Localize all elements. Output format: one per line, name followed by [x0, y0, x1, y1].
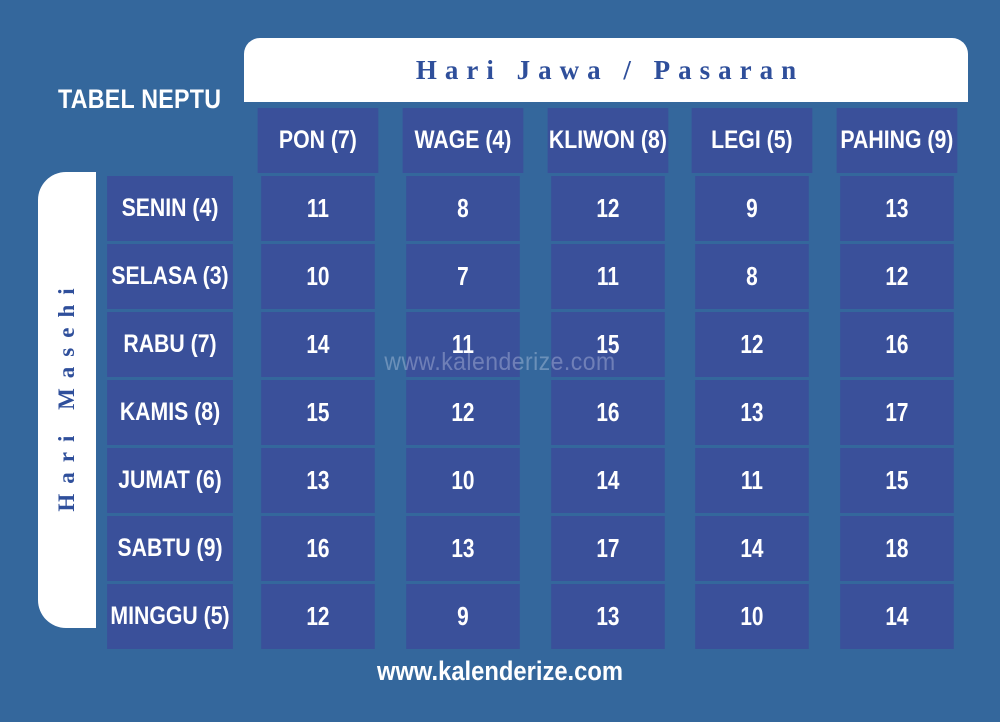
neptu-cell: 12: [551, 176, 664, 241]
neptu-cell: 13: [696, 380, 809, 445]
neptu-cell: 13: [406, 516, 519, 581]
neptu-cell: 13: [551, 584, 664, 649]
row-header: SABTU (9): [107, 516, 233, 581]
neptu-cell: 15: [261, 380, 374, 445]
column-header: PON (7): [258, 108, 379, 173]
column-header: LEGI (5): [692, 108, 813, 173]
neptu-grid: PON (7)WAGE (4)KLIWON (8)LEGI (5)PAHING …: [96, 108, 968, 649]
neptu-cell: 14: [840, 584, 953, 649]
neptu-cell: 12: [261, 584, 374, 649]
neptu-cell: 7: [406, 244, 519, 309]
row-axis-tab: Hari Masehi: [38, 172, 96, 628]
neptu-cell: 11: [406, 312, 519, 377]
neptu-cell: 10: [261, 244, 374, 309]
neptu-cell: 14: [261, 312, 374, 377]
neptu-cell: 15: [551, 312, 664, 377]
neptu-cell: 13: [261, 448, 374, 513]
column-header: KLIWON (8): [547, 108, 668, 173]
neptu-cell: 11: [551, 244, 664, 309]
column-axis-banner: Hari Jawa / Pasaran: [244, 38, 968, 102]
neptu-table-infographic: TABEL NEPTU Hari Masehi Hari Jawa / Pasa…: [0, 0, 1000, 722]
neptu-cell: 10: [696, 584, 809, 649]
row-header: MINGGU (5): [107, 584, 233, 649]
neptu-cell: 18: [840, 516, 953, 581]
column-header: WAGE (4): [402, 108, 523, 173]
neptu-cell: 11: [696, 448, 809, 513]
neptu-cell: 9: [406, 584, 519, 649]
neptu-cell: 12: [406, 380, 519, 445]
neptu-cell: 11: [261, 176, 374, 241]
row-header: SENIN (4): [107, 176, 233, 241]
neptu-cell: 8: [406, 176, 519, 241]
column-header: PAHING (9): [837, 108, 958, 173]
neptu-cell: 16: [261, 516, 374, 581]
neptu-cell: 12: [840, 244, 953, 309]
neptu-cell: 10: [406, 448, 519, 513]
neptu-cell: 13: [840, 176, 953, 241]
neptu-cell: 12: [696, 312, 809, 377]
footer-url: www.kalenderize.com: [60, 656, 940, 687]
row-header: SELASA (3): [107, 244, 233, 309]
row-header: KAMIS (8): [107, 380, 233, 445]
neptu-cell: 16: [840, 312, 953, 377]
column-axis-label: Hari Jawa / Pasaran: [408, 55, 804, 86]
neptu-cell: 14: [696, 516, 809, 581]
row-header: JUMAT (6): [107, 448, 233, 513]
neptu-cell: 17: [840, 380, 953, 445]
neptu-cell: 8: [696, 244, 809, 309]
neptu-cell: 17: [551, 516, 664, 581]
neptu-cell: 16: [551, 380, 664, 445]
grid-corner-spacer: [96, 108, 244, 173]
neptu-cell: 15: [840, 448, 953, 513]
row-axis-label: Hari Masehi: [38, 172, 96, 628]
row-header: RABU (7): [107, 312, 233, 377]
neptu-cell: 9: [696, 176, 809, 241]
neptu-cell: 14: [551, 448, 664, 513]
